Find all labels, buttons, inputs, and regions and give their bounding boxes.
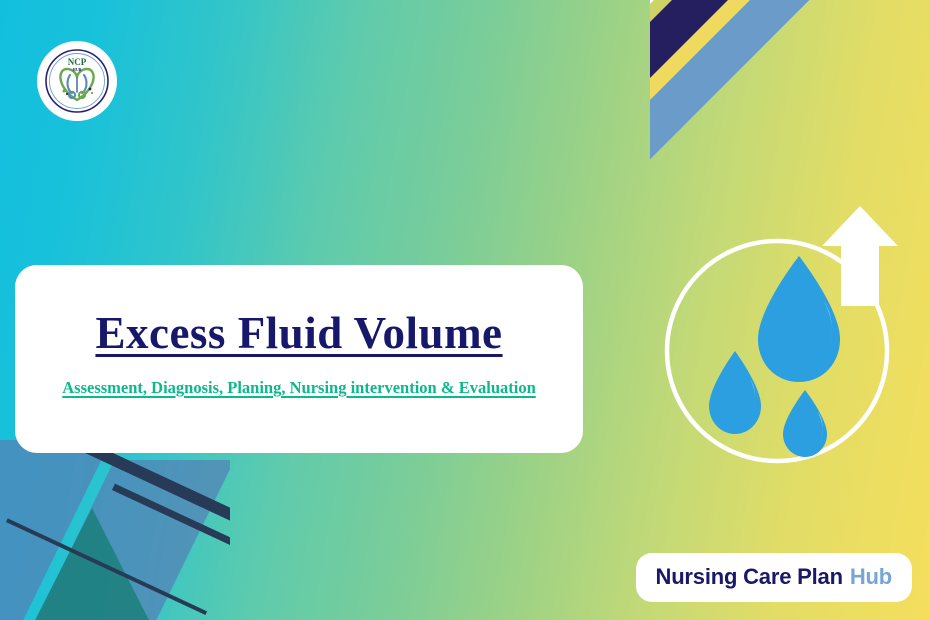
svg-text:HUB: HUB bbox=[73, 67, 82, 72]
decor-parallelogram-left bbox=[0, 440, 111, 620]
decor-diagonal-line-3 bbox=[6, 518, 207, 615]
ribbon-stripe-white bbox=[650, 0, 775, 160]
ribbon-stripe-navy bbox=[650, 0, 842, 161]
brand-name-accent: Hub bbox=[850, 564, 892, 590]
decor-diagonal-line-4 bbox=[112, 484, 230, 588]
decor-triangle bbox=[30, 508, 154, 620]
svg-text:NCP: NCP bbox=[68, 57, 87, 67]
brand-pill[interactable]: Nursing Care Plan Hub bbox=[636, 553, 913, 602]
brand-name-main: Nursing Care Plan bbox=[656, 564, 843, 590]
top-right-ribbon-decoration bbox=[650, 0, 930, 170]
ribbon-stripe-olive bbox=[650, 0, 797, 151]
ribbon-stripe-yellow bbox=[650, 0, 874, 154]
decor-parallelogram-right bbox=[10, 460, 230, 620]
ribbon-stripe-steel bbox=[650, 0, 910, 160]
water-droplet-small bbox=[783, 390, 827, 457]
water-droplet-large bbox=[758, 256, 840, 382]
stethoscope-heart-icon: NCP HUB bbox=[44, 48, 110, 114]
water-droplet-medium bbox=[709, 351, 761, 434]
bottom-left-geometric-decoration bbox=[0, 430, 230, 620]
headline-card: Excess Fluid Volume Assessment, Diagnosi… bbox=[15, 265, 583, 453]
droplets-illustration bbox=[655, 196, 920, 471]
page-title: Excess Fluid Volume bbox=[95, 308, 502, 358]
poster-canvas: NCP HUB Excess Fluid Volume Assessment, … bbox=[0, 0, 930, 620]
logo-badge[interactable]: NCP HUB bbox=[37, 41, 117, 121]
page-subtitle: Assessment, Diagnosis, Planing, Nursing … bbox=[62, 375, 536, 402]
